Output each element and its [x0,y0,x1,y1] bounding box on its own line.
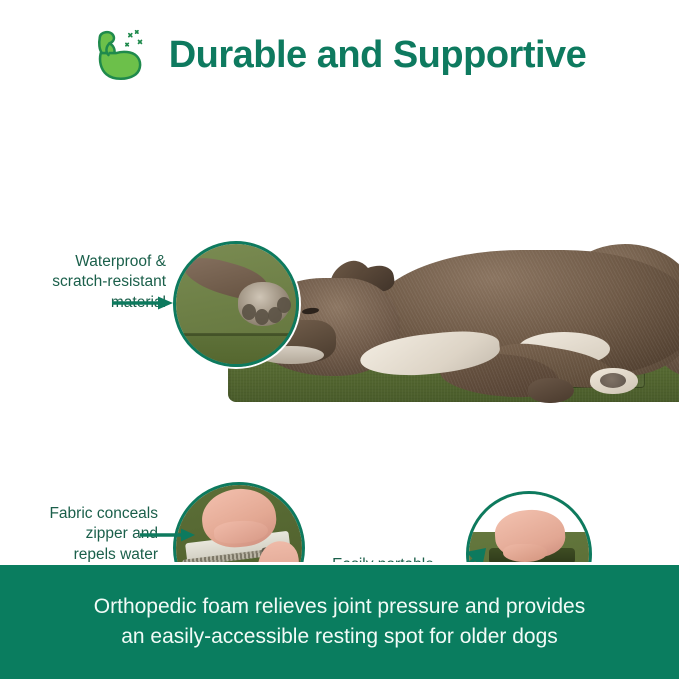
inset-photo [176,485,302,562]
dog-paw [238,282,290,326]
product-photo-stage: furhaven [0,100,679,562]
callout-handle: Easily portable with built-in handle [318,555,448,562]
banner-line-1: Orthopedic foam relieves joint pressure … [94,592,585,622]
inset-paw-on-fabric [173,241,299,367]
arrow-right-icon [140,528,196,542]
dog-front-paw [528,378,574,403]
arrow-up-right-icon [438,546,494,562]
callout-line: repels water [6,545,158,562]
header: Durable and Supportive [0,14,679,96]
inset-photo [176,244,296,364]
fabric-seam [176,333,296,336]
arrow-right-icon [112,296,174,310]
banner-line-2: an easily-accessible resting spot for ol… [121,622,558,652]
callout-line: Fabric conceals [6,504,158,524]
footer-banner: Orthopedic foam relieves joint pressure … [0,565,679,679]
infographic-canvas: Durable and Supportive furhaven [0,0,679,679]
inset-zipper-closeup [173,482,305,562]
callout-line: Waterproof & [14,252,166,272]
page-title: Durable and Supportive [169,36,587,74]
callout-line: scratch-resistant [14,272,166,292]
callout-line: zipper and [6,524,158,544]
dog-photo [250,250,679,415]
dog-back-paw [590,368,638,394]
callout-line: Easily portable [318,555,448,562]
hand-fingers [503,544,547,562]
fabric-edge [176,334,296,364]
flexed-bicep-icon [93,24,155,86]
callout-zipper: Fabric conceals zipper and repels water [6,504,158,562]
